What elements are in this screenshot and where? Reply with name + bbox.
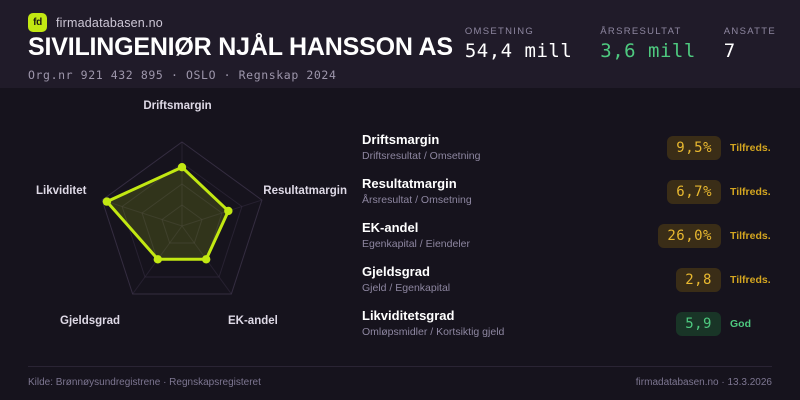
kpi-label: ÅRSRESULTAT: [600, 26, 696, 37]
metric-text: Driftsmargin Driftsresultat / Omsetning: [362, 132, 662, 164]
metric-formula: Egenkapital / Eiendeler: [362, 238, 662, 252]
status-badge: Tilfreds.: [730, 142, 782, 154]
metric-value-group: 9,5% Tilfreds.: [652, 126, 782, 170]
status-badge: God: [730, 318, 782, 330]
radar-chart-svg: [0, 88, 355, 353]
kpi-value: 3,6 mill: [600, 42, 696, 61]
page-title: SIVILINGENIØR NJÅL HANSSON AS: [28, 33, 453, 62]
metric-formula: Omløpsmidler / Kortsiktig gjeld: [362, 326, 662, 340]
status-badge: Tilfreds.: [730, 186, 782, 198]
metric-value-chip: 6,7%: [667, 180, 721, 205]
footer-stamp: firmadatabasen.no · 13.3.2026: [636, 377, 772, 388]
metric-value-group: 26,0% Tilfreds.: [652, 214, 782, 258]
kpi-label: OMSETNING: [465, 26, 572, 37]
metric-name: EK-andel: [362, 220, 662, 236]
metric-text: Gjeldsgrad Gjeld / Egenkapital: [362, 264, 662, 296]
company-key-figures-card: fd firmadatabasen.no SIVILINGENIØR NJÅL …: [0, 0, 800, 400]
metric-value-group: 6,7% Tilfreds.: [652, 170, 782, 214]
radar-axis-label-likviditet: Likviditet: [36, 185, 86, 197]
metric-row-likviditetsgrad[interactable]: Likviditetsgrad Omløpsmidler / Kortsikti…: [362, 302, 782, 346]
radar-axis-label-resultatmargin: Resultatmargin: [263, 185, 347, 197]
metric-name: Resultatmargin: [362, 176, 662, 192]
firmadatabasen-logo-icon: fd: [28, 13, 47, 32]
metric-row-resultatmargin[interactable]: Resultatmargin Årsresultat / Omsetning 6…: [362, 170, 782, 214]
metric-value-chip: 9,5%: [667, 136, 721, 161]
footer: Kilde: Brønnøysundregistrene · Regnskaps…: [0, 366, 800, 400]
metric-text: EK-andel Egenkapital / Eiendeler: [362, 220, 662, 252]
footer-divider: [28, 366, 772, 367]
status-badge: Tilfreds.: [730, 230, 782, 242]
brand-name: firmadatabasen.no: [56, 16, 163, 30]
kpi-group: OMSETNING 54,4 mill ÅRSRESULTAT 3,6 mill…: [465, 26, 776, 61]
status-badge: Tilfreds.: [730, 274, 782, 286]
kpi-value: 7: [724, 42, 776, 61]
kpi-value: 54,4 mill: [465, 42, 572, 61]
brand[interactable]: fd firmadatabasen.no: [28, 13, 163, 32]
radar-chart: Driftsmargin Resultatmargin EK-andel Gje…: [0, 88, 355, 353]
radar-series-area: [107, 167, 228, 259]
kpi-label: ANSATTE: [724, 26, 776, 37]
metric-value-chip: 5,9: [676, 312, 721, 337]
metric-row-gjeldsgrad[interactable]: Gjeldsgrad Gjeld / Egenkapital 2,8 Tilfr…: [362, 258, 782, 302]
metric-formula: Årsresultat / Omsetning: [362, 194, 662, 208]
kpi-omsetning: OMSETNING 54,4 mill: [465, 26, 572, 61]
footer-source: Kilde: Brønnøysundregistrene · Regnskaps…: [28, 377, 261, 388]
metric-value-group: 2,8 Tilfreds.: [652, 258, 782, 302]
radar-axis-label-gjeldsgrad: Gjeldsgrad: [60, 315, 120, 327]
metric-value-chip: 26,0%: [658, 224, 721, 249]
metric-formula: Driftsresultat / Omsetning: [362, 150, 662, 164]
metric-name: Likviditetsgrad: [362, 308, 662, 324]
header: fd firmadatabasen.no SIVILINGENIØR NJÅL …: [0, 0, 800, 88]
metric-text: Resultatmargin Årsresultat / Omsetning: [362, 176, 662, 208]
metric-row-driftsmargin[interactable]: Driftsmargin Driftsresultat / Omsetning …: [362, 126, 782, 170]
metric-row-ek-andel[interactable]: EK-andel Egenkapital / Eiendeler 26,0% T…: [362, 214, 782, 258]
metrics-list: Driftsmargin Driftsresultat / Omsetning …: [362, 126, 782, 346]
metric-value-chip: 2,8: [676, 268, 721, 293]
metric-value-group: 5,9 God: [652, 302, 782, 346]
metric-formula: Gjeld / Egenkapital: [362, 282, 662, 296]
metric-name: Driftsmargin: [362, 132, 662, 148]
radar-axis-label-driftsmargin: Driftsmargin: [0, 100, 355, 112]
kpi-ansatte: ANSATTE 7: [724, 26, 776, 61]
metric-name: Gjeldsgrad: [362, 264, 662, 280]
kpi-arsresultat: ÅRSRESULTAT 3,6 mill: [600, 26, 696, 61]
metric-text: Likviditetsgrad Omløpsmidler / Kortsikti…: [362, 308, 662, 340]
company-meta: Org.nr 921 432 895 · OSLO · Regnskap 202…: [28, 68, 336, 82]
radar-axis-label-ek-andel: EK-andel: [228, 315, 278, 327]
